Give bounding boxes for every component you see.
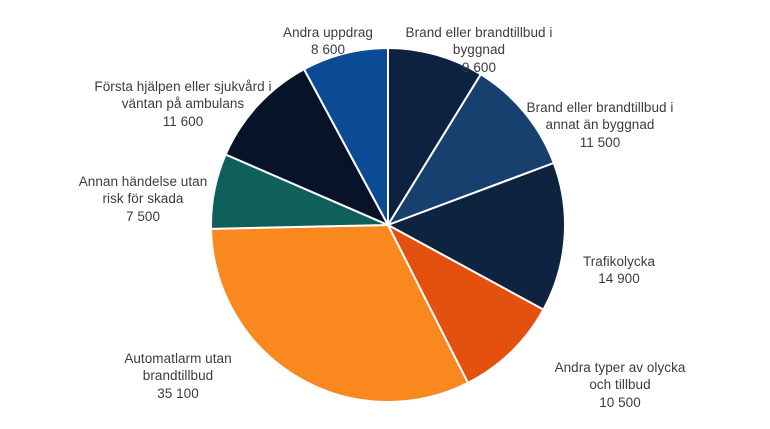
pie-chart: Andra uppdrag 8 600 Brand eller brandtil… xyxy=(0,0,770,421)
label-trafikolycka: Trafikolycka 14 900 xyxy=(544,235,694,305)
label-andra-uppdrag-line1: Andra uppdrag xyxy=(283,25,373,40)
label-automatlarm: Automatlarm utan brandtillbud 35 100 xyxy=(78,332,278,420)
label-annan-handelse-value: 7 500 xyxy=(48,208,238,226)
label-annan-handelse-line1: Annan händelse utan xyxy=(79,174,208,189)
label-brand-annat-line2: annat än byggnad xyxy=(546,117,655,132)
label-brand-annat-line1: Brand eller brandtillbud i xyxy=(527,100,674,115)
label-forsta-hjalpen-value: 11 600 xyxy=(68,113,298,131)
label-andra-typer-line2: och tillbud xyxy=(589,377,650,392)
label-brand-byggnad-line1: Brand eller brandtillbud i xyxy=(406,25,553,40)
label-andra-typer: Andra typer av olycka och tillbud 10 500 xyxy=(520,341,720,429)
label-annan-handelse-line2: risk för skada xyxy=(103,191,184,206)
label-brand-annat-value: 11 500 xyxy=(500,134,700,152)
label-automatlarm-line1: Automatlarm utan xyxy=(124,351,231,366)
label-automatlarm-value: 35 100 xyxy=(78,385,278,403)
label-andra-typer-value: 10 500 xyxy=(520,394,720,412)
label-brand-byggnad-value: 9 600 xyxy=(384,59,574,77)
label-trafikolycka-value: 14 900 xyxy=(544,270,694,288)
label-forsta-hjalpen-line2: väntan på ambulans xyxy=(122,96,245,111)
label-forsta-hjalpen-line1: Första hjälpen eller sjukvård i xyxy=(94,79,271,94)
label-forsta-hjalpen: Första hjälpen eller sjukvård i väntan p… xyxy=(68,60,298,148)
label-andra-typer-line1: Andra typer av olycka xyxy=(555,360,686,375)
label-trafikolycka-line1: Trafikolycka xyxy=(583,254,655,269)
label-brand-annat: Brand eller brandtillbud i annat än bygg… xyxy=(500,81,700,169)
label-automatlarm-line2: brandtillbud xyxy=(143,368,213,383)
label-brand-byggnad-line2: byggnad xyxy=(453,42,505,57)
label-annan-handelse: Annan händelse utan risk för skada 7 500 xyxy=(48,155,238,243)
